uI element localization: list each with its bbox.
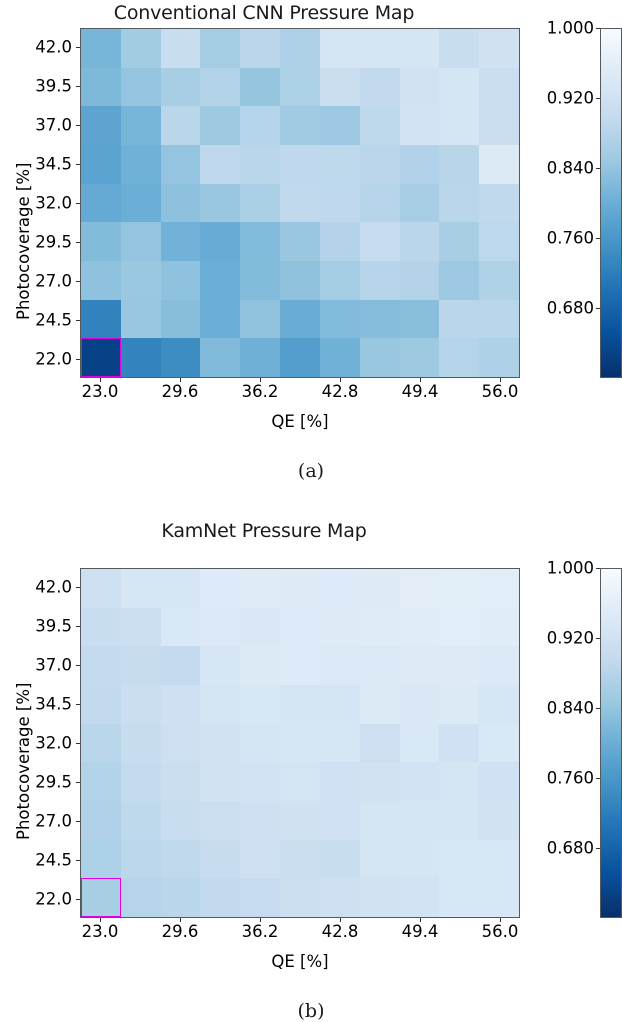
x-tick-label: 29.6 (162, 922, 199, 941)
heatmap-cell[interactable] (280, 878, 320, 917)
heatmap-cell[interactable] (320, 801, 360, 840)
heatmap-cell[interactable] (360, 608, 400, 647)
heatmap-cell[interactable] (400, 68, 440, 107)
heatmap-cell[interactable] (360, 646, 400, 685)
heatmap-cell[interactable] (439, 261, 479, 300)
heatmap-cell[interactable] (240, 608, 280, 647)
heatmap-cell[interactable] (81, 145, 121, 184)
heatmap-cell[interactable] (360, 106, 400, 145)
heatmap-cell[interactable] (400, 261, 440, 300)
heatmap-cell[interactable] (439, 222, 479, 261)
heatmap-cell[interactable] (400, 762, 440, 801)
y-tick-label: 34.5 (0, 155, 72, 174)
heatmap-cell[interactable] (240, 145, 280, 184)
heatmap-cell[interactable] (400, 300, 440, 339)
heatmap-cell[interactable] (121, 801, 161, 840)
heatmap-cell[interactable] (240, 300, 280, 339)
heatmap-cell[interactable] (200, 762, 240, 801)
panel-b-xlabel: QE [%] (80, 952, 520, 971)
heatmap-cell[interactable] (320, 338, 360, 377)
heatmap-cell[interactable] (280, 300, 320, 339)
heatmap-cell[interactable] (200, 840, 240, 879)
heatmap-cell[interactable] (240, 222, 280, 261)
heatmap-cell[interactable] (400, 569, 440, 608)
heatmap-cell[interactable] (161, 762, 201, 801)
colorbar-tick-label: 0.760 (528, 769, 594, 788)
heatmap-cell[interactable] (439, 762, 479, 801)
colorbar-tick-mark (596, 638, 600, 639)
colorbar-tick-label: 1.000 (528, 19, 594, 38)
heatmap-cell[interactable] (400, 646, 440, 685)
y-tick-mark (76, 860, 80, 861)
heatmap-cell[interactable] (121, 300, 161, 339)
heatmap-cell[interactable] (479, 724, 519, 763)
heatmap-cell[interactable] (439, 569, 479, 608)
colorbar-tick-mark (596, 848, 600, 849)
heatmap-cell[interactable] (439, 840, 479, 879)
heatmap-cell[interactable] (161, 724, 201, 763)
heatmap-cell[interactable] (240, 29, 280, 68)
heatmap-cell[interactable] (121, 685, 161, 724)
heatmap-cell[interactable] (320, 106, 360, 145)
heatmap-cell[interactable] (200, 68, 240, 107)
y-tick-mark (76, 626, 80, 627)
y-tick-label: 32.0 (0, 734, 72, 753)
y-tick-mark (76, 281, 80, 282)
heatmap-cell[interactable] (320, 261, 360, 300)
y-tick-label: 37.0 (0, 116, 72, 135)
heatmap-cell[interactable] (320, 762, 360, 801)
y-tick-mark (76, 821, 80, 822)
heatmap-cell[interactable] (161, 29, 201, 68)
heatmap-cell[interactable] (280, 106, 320, 145)
y-tick-mark (76, 782, 80, 783)
heatmap-cell[interactable] (200, 145, 240, 184)
heatmap-cell[interactable] (400, 145, 440, 184)
panel-a-xlabel: QE [%] (80, 412, 520, 431)
x-tick-label: 42.8 (322, 922, 359, 941)
heatmap-cell[interactable] (240, 762, 280, 801)
heatmap-cell[interactable] (81, 724, 121, 763)
heatmap-cell[interactable] (81, 29, 121, 68)
heatmap-cell[interactable] (479, 300, 519, 339)
heatmap-cell[interactable] (320, 646, 360, 685)
colorbar-tick-label: 0.680 (528, 839, 594, 858)
heatmap-cell[interactable] (200, 261, 240, 300)
heatmap-cell[interactable] (240, 106, 280, 145)
heatmap-cell[interactable] (360, 724, 400, 763)
heatmap-cell[interactable] (479, 222, 519, 261)
heatmap-cell[interactable] (400, 724, 440, 763)
heatmap-cell[interactable] (439, 646, 479, 685)
heatmap-cell[interactable] (320, 68, 360, 107)
heatmap-cell[interactable] (240, 569, 280, 608)
heatmap-cell[interactable] (320, 724, 360, 763)
y-tick-label: 27.0 (0, 811, 72, 830)
y-tick-label: 34.5 (0, 695, 72, 714)
heatmap-cell[interactable] (200, 569, 240, 608)
heatmap-cell[interactable] (121, 878, 161, 917)
heatmap-cell[interactable] (81, 184, 121, 223)
heatmap-cell[interactable] (161, 840, 201, 879)
y-tick-label: 29.5 (0, 772, 72, 791)
y-tick-label: 42.0 (0, 38, 72, 57)
colorbar-tick-mark (596, 168, 600, 169)
heatmap-cell[interactable] (400, 338, 440, 377)
heatmap-cell[interactable] (81, 106, 121, 145)
heatmap-cell[interactable] (479, 184, 519, 223)
x-tick-label: 49.4 (402, 922, 439, 941)
heatmap-cell[interactable] (439, 338, 479, 377)
heatmap-cell[interactable] (240, 184, 280, 223)
heatmap-cell[interactable] (200, 801, 240, 840)
y-tick-label: 29.5 (0, 232, 72, 251)
heatmap-cell[interactable] (81, 261, 121, 300)
colorbar-tick-mark (596, 778, 600, 779)
heatmap-cell[interactable] (360, 29, 400, 68)
panel-a-heatmap[interactable] (80, 28, 520, 378)
panel-b-heatmap[interactable] (80, 568, 520, 918)
heatmap-cell[interactable] (121, 145, 161, 184)
heatmap-cell[interactable] (81, 222, 121, 261)
heatmap-cell[interactable] (240, 724, 280, 763)
heatmap-cell[interactable] (360, 222, 400, 261)
heatmap-cell[interactable] (400, 840, 440, 879)
x-tick-mark (260, 378, 261, 382)
heatmap-cell[interactable] (240, 801, 280, 840)
x-tick-mark (180, 918, 181, 922)
heatmap-cell[interactable] (240, 338, 280, 377)
heatmap-cell[interactable] (360, 184, 400, 223)
panel-a-caption: (a) (0, 460, 622, 482)
heatmap-cell[interactable] (81, 762, 121, 801)
heatmap-cell[interactable] (200, 878, 240, 917)
figure-panel-b: KamNet Pressure Map Photocoverage [%] 42… (0, 510, 622, 1020)
y-tick-mark (76, 164, 80, 165)
y-tick-mark (76, 86, 80, 87)
colorbar-tick-label: 0.840 (528, 699, 594, 718)
heatmap-cell[interactable] (360, 840, 400, 879)
y-tick-mark (76, 203, 80, 204)
heatmap-cell[interactable] (161, 608, 201, 647)
heatmap-cell[interactable] (320, 145, 360, 184)
x-tick-mark (420, 378, 421, 382)
heatmap-cell[interactable] (479, 762, 519, 801)
heatmap-cell[interactable] (200, 29, 240, 68)
heatmap-cell[interactable] (439, 685, 479, 724)
heatmap-cell[interactable] (400, 608, 440, 647)
heatmap-cell[interactable] (360, 569, 400, 608)
heatmap-cell[interactable] (161, 646, 201, 685)
heatmap-cell[interactable] (280, 338, 320, 377)
heatmap-cell[interactable] (280, 222, 320, 261)
colorbar-tick-label: 0.920 (528, 629, 594, 648)
y-tick-label: 37.0 (0, 656, 72, 675)
heatmap-cell[interactable] (200, 338, 240, 377)
x-tick-mark (500, 378, 501, 382)
heatmap-cell[interactable] (400, 106, 440, 145)
heatmap-cell[interactable] (200, 724, 240, 763)
y-tick-mark (76, 359, 80, 360)
x-tick-mark (100, 918, 101, 922)
x-tick-mark (100, 378, 101, 382)
heatmap-cell[interactable] (360, 685, 400, 724)
heatmap-cell[interactable] (240, 261, 280, 300)
y-tick-label: 24.5 (0, 850, 72, 869)
heatmap-cell[interactable] (200, 685, 240, 724)
heatmap-cell[interactable] (161, 106, 201, 145)
colorbar-tick-label: 0.760 (528, 229, 594, 248)
heatmap-cell[interactable] (320, 878, 360, 917)
y-tick-mark (76, 47, 80, 48)
y-tick-mark (76, 242, 80, 243)
heatmap-cell[interactable] (479, 878, 519, 917)
heatmap-cell[interactable] (439, 29, 479, 68)
colorbar-tick-mark (596, 708, 600, 709)
y-tick-label: 42.0 (0, 578, 72, 597)
heatmap-cell[interactable] (400, 685, 440, 724)
heatmap-cell[interactable] (81, 840, 121, 879)
heatmap-cell[interactable] (121, 762, 161, 801)
panel-b-caption: (b) (0, 1000, 622, 1022)
x-tick-label: 23.0 (82, 922, 119, 941)
heatmap-cell[interactable] (360, 801, 400, 840)
y-tick-mark (76, 665, 80, 666)
y-tick-label: 39.5 (0, 77, 72, 96)
colorbar-tick-label: 1.000 (528, 559, 594, 578)
heatmap-cell[interactable] (161, 878, 201, 917)
heatmap-cell[interactable] (121, 646, 161, 685)
y-tick-label: 39.5 (0, 617, 72, 636)
heatmap-cell[interactable] (439, 878, 479, 917)
heatmap-cell[interactable] (161, 145, 201, 184)
x-tick-mark (420, 918, 421, 922)
heatmap-cell[interactable] (81, 608, 121, 647)
heatmap-cell[interactable] (280, 801, 320, 840)
heatmap-cell[interactable] (240, 646, 280, 685)
heatmap-cell[interactable] (320, 29, 360, 68)
x-tick-label: 56.0 (482, 382, 519, 401)
heatmap-cell[interactable] (439, 145, 479, 184)
figure-panel-a: Conventional CNN Pressure Map Photocover… (0, 0, 622, 510)
heatmap-cell[interactable] (360, 300, 400, 339)
heatmap-cell[interactable] (479, 145, 519, 184)
heatmap-cell[interactable] (81, 300, 121, 339)
x-tick-label: 56.0 (482, 922, 519, 941)
heatmap-cell[interactable] (479, 840, 519, 879)
heatmap-cell[interactable] (81, 685, 121, 724)
panel-b-title: KamNet Pressure Map (0, 520, 528, 542)
y-tick-mark (76, 320, 80, 321)
heatmap-cell[interactable] (280, 145, 320, 184)
heatmap-cell[interactable] (121, 608, 161, 647)
heatmap-cell[interactable] (320, 840, 360, 879)
panel-a-title: Conventional CNN Pressure Map (0, 2, 528, 24)
heatmap-cell[interactable] (439, 300, 479, 339)
heatmap-cell[interactable] (240, 840, 280, 879)
heatmap-cell[interactable] (280, 569, 320, 608)
heatmap-cell[interactable] (161, 569, 201, 608)
heatmap-cell[interactable] (320, 569, 360, 608)
y-tick-mark (76, 704, 80, 705)
heatmap-cell[interactable] (479, 569, 519, 608)
heatmap-cell[interactable] (200, 222, 240, 261)
heatmap-cell[interactable] (439, 106, 479, 145)
heatmap-cell[interactable] (121, 184, 161, 223)
colorbar-tick-mark (596, 28, 600, 29)
heatmap-cell[interactable] (81, 569, 121, 608)
y-tick-mark (76, 587, 80, 588)
heatmap-cell[interactable] (400, 878, 440, 917)
heatmap-cell[interactable] (400, 29, 440, 68)
heatmap-cell[interactable] (200, 608, 240, 647)
heatmap-cell[interactable] (479, 608, 519, 647)
heatmap-cell[interactable] (161, 184, 201, 223)
x-tick-mark (180, 378, 181, 382)
heatmap-cell[interactable] (479, 685, 519, 724)
colorbar-tick-label: 0.920 (528, 89, 594, 108)
heatmap-cell[interactable] (280, 68, 320, 107)
heatmap-cell[interactable] (280, 685, 320, 724)
panel-b-colorbar-gradient (601, 569, 621, 917)
y-tick-label: 32.0 (0, 194, 72, 213)
heatmap-cell[interactable] (320, 222, 360, 261)
heatmap-cell[interactable] (161, 685, 201, 724)
x-tick-mark (340, 918, 341, 922)
heatmap-cell[interactable] (240, 68, 280, 107)
heatmap-cell[interactable] (161, 801, 201, 840)
heatmap-cell[interactable] (439, 184, 479, 223)
heatmap-cell[interactable] (240, 878, 280, 917)
heatmap-cell[interactable] (360, 261, 400, 300)
heatmap-cell[interactable] (320, 184, 360, 223)
heatmap-cell[interactable] (161, 222, 201, 261)
heatmap-cell[interactable] (161, 300, 201, 339)
heatmap-cell[interactable] (400, 222, 440, 261)
heatmap-cell[interactable] (121, 261, 161, 300)
x-tick-label: 36.2 (242, 382, 279, 401)
heatmap-cell[interactable] (121, 106, 161, 145)
heatmap-cell[interactable] (161, 338, 201, 377)
heatmap-cell[interactable] (121, 222, 161, 261)
y-tick-label: 22.0 (0, 889, 72, 908)
heatmap-cell[interactable] (81, 68, 121, 107)
colorbar-tick-mark (596, 568, 600, 569)
x-tick-mark (340, 378, 341, 382)
x-tick-mark (500, 918, 501, 922)
panel-b-cell-grid (81, 569, 519, 917)
heatmap-cell[interactable] (121, 68, 161, 107)
y-tick-mark (76, 743, 80, 744)
heatmap-cell[interactable] (439, 801, 479, 840)
heatmap-cell[interactable] (200, 646, 240, 685)
heatmap-cell[interactable] (280, 184, 320, 223)
heatmap-cell[interactable] (400, 801, 440, 840)
heatmap-cell[interactable] (360, 762, 400, 801)
heatmap-cell[interactable] (161, 68, 201, 107)
heatmap-cell[interactable] (121, 569, 161, 608)
x-tick-mark (260, 918, 261, 922)
heatmap-cell[interactable] (280, 762, 320, 801)
x-tick-label: 42.8 (322, 382, 359, 401)
heatmap-cell[interactable] (320, 685, 360, 724)
colorbar-tick-label: 0.680 (528, 299, 594, 318)
panel-a-colorbar-gradient (601, 29, 621, 377)
heatmap-cell[interactable] (280, 840, 320, 879)
panel-b-colorbar[interactable] (600, 568, 622, 918)
heatmap-cell[interactable] (439, 724, 479, 763)
heatmap-cell[interactable] (200, 106, 240, 145)
y-tick-label: 24.5 (0, 310, 72, 329)
colorbar-tick-mark (596, 98, 600, 99)
heatmap-cell[interactable] (81, 801, 121, 840)
heatmap-cell[interactable] (360, 338, 400, 377)
heatmap-cell[interactable] (479, 106, 519, 145)
heatmap-cell[interactable] (320, 608, 360, 647)
heatmap-cell[interactable] (439, 68, 479, 107)
colorbar-tick-mark (596, 308, 600, 309)
heatmap-cell[interactable] (479, 338, 519, 377)
heatmap-cell[interactable] (280, 261, 320, 300)
heatmap-cell[interactable] (200, 300, 240, 339)
heatmap-cell[interactable] (479, 646, 519, 685)
heatmap-cell[interactable] (320, 300, 360, 339)
x-tick-label: 23.0 (82, 382, 119, 401)
heatmap-cell[interactable] (200, 184, 240, 223)
panel-a-cell-grid (81, 29, 519, 377)
x-tick-label: 29.6 (162, 382, 199, 401)
heatmap-cell[interactable] (280, 724, 320, 763)
heatmap-cell[interactable] (81, 338, 121, 377)
heatmap-cell[interactable] (280, 646, 320, 685)
heatmap-cell[interactable] (360, 68, 400, 107)
heatmap-cell[interactable] (161, 261, 201, 300)
heatmap-cell[interactable] (121, 338, 161, 377)
heatmap-cell[interactable] (479, 801, 519, 840)
heatmap-cell[interactable] (360, 878, 400, 917)
y-tick-label: 27.0 (0, 271, 72, 290)
heatmap-cell[interactable] (479, 261, 519, 300)
heatmap-cell[interactable] (240, 685, 280, 724)
heatmap-cell[interactable] (439, 608, 479, 647)
x-tick-label: 49.4 (402, 382, 439, 401)
heatmap-cell[interactable] (400, 184, 440, 223)
heatmap-cell[interactable] (121, 840, 161, 879)
heatmap-cell[interactable] (121, 29, 161, 68)
heatmap-cell[interactable] (479, 29, 519, 68)
heatmap-cell[interactable] (81, 878, 121, 917)
heatmap-cell[interactable] (81, 646, 121, 685)
x-tick-label: 36.2 (242, 922, 279, 941)
heatmap-cell[interactable] (280, 29, 320, 68)
y-tick-label: 22.0 (0, 349, 72, 368)
y-tick-mark (76, 125, 80, 126)
colorbar-tick-label: 0.840 (528, 159, 594, 178)
heatmap-cell[interactable] (479, 68, 519, 107)
y-tick-mark (76, 899, 80, 900)
heatmap-cell[interactable] (280, 608, 320, 647)
heatmap-cell[interactable] (360, 145, 400, 184)
colorbar-tick-mark (596, 238, 600, 239)
heatmap-cell[interactable] (121, 724, 161, 763)
panel-a-colorbar[interactable] (600, 28, 622, 378)
